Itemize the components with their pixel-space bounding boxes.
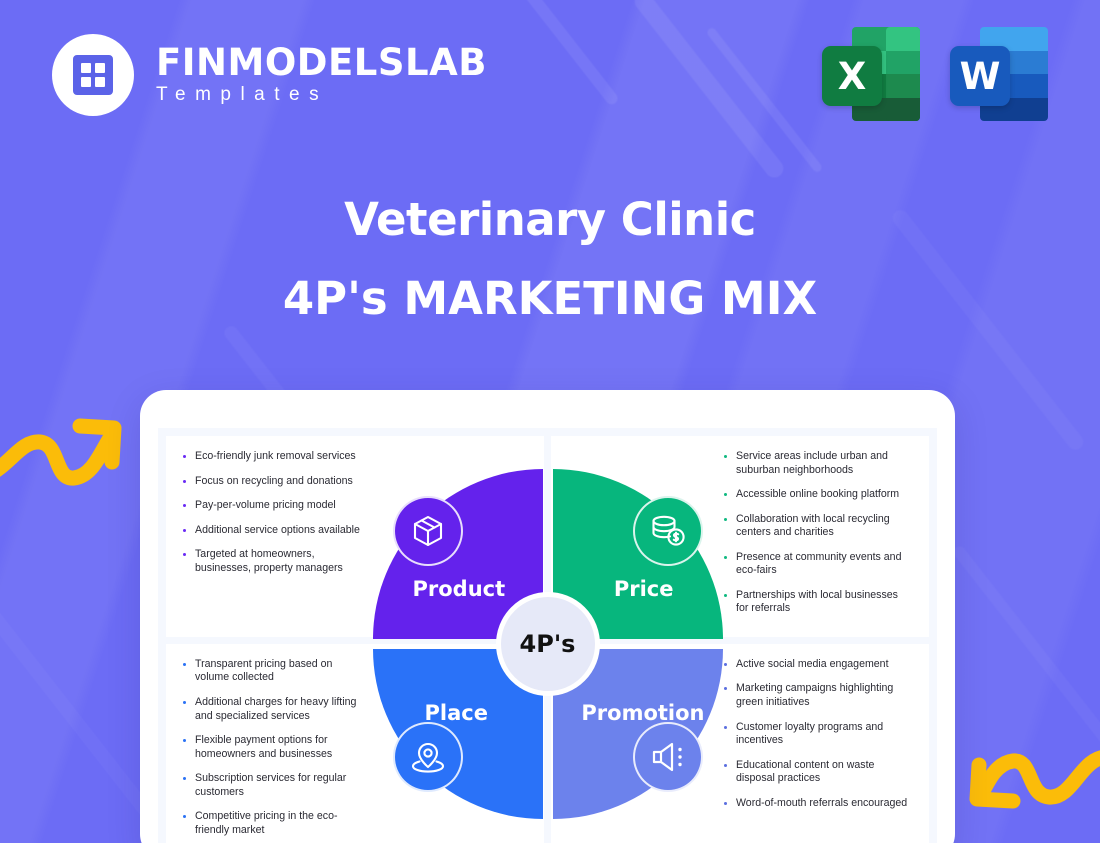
list-item: Subscription services for regular custom… bbox=[180, 772, 368, 799]
quadrant-label-place: Place bbox=[425, 701, 488, 725]
megaphone-icon bbox=[633, 722, 703, 792]
list-item: Presence at community events and eco-fai… bbox=[721, 551, 909, 578]
four-ps-donut: Product Price Place Promotion bbox=[373, 469, 723, 819]
price-bullet-list: Service areas include urban and suburban… bbox=[721, 450, 909, 627]
grid-squares-icon bbox=[73, 55, 113, 95]
list-item: Eco-friendly junk removal services bbox=[180, 450, 368, 464]
list-item: Marketing campaigns highlighting green i… bbox=[721, 682, 909, 709]
list-item: Pay-per-volume pricing model bbox=[180, 499, 368, 513]
list-item: Flexible payment options for homeowners … bbox=[180, 734, 368, 761]
excel-badge: X bbox=[822, 46, 882, 106]
background-streak bbox=[631, 0, 787, 181]
background-streak bbox=[951, 544, 1100, 756]
quadrant-grid: Eco-friendly junk removal services Focus… bbox=[166, 436, 929, 843]
logo-text: FINMODELSLAB Templates bbox=[156, 44, 487, 107]
word-badge: W bbox=[950, 46, 1010, 106]
promotion-bullet-list: Active social media engagement Marketing… bbox=[721, 658, 909, 821]
brand-logo[interactable]: FINMODELSLAB Templates bbox=[52, 34, 487, 116]
background-streak bbox=[512, 0, 620, 107]
list-item: Additional service options available bbox=[180, 524, 368, 538]
background-streak bbox=[706, 26, 824, 173]
list-item: Partnerships with local businesses for r… bbox=[721, 589, 909, 616]
title-line-1: Veterinary Clinic bbox=[0, 193, 1100, 246]
coins-dollar-icon bbox=[633, 496, 703, 566]
hub-label: 4P's bbox=[520, 630, 576, 658]
list-item: Focus on recycling and donations bbox=[180, 475, 368, 489]
quadrant-label-price: Price bbox=[614, 577, 674, 601]
excel-sheet-right bbox=[886, 27, 920, 121]
list-item: Collaboration with local recycling cente… bbox=[721, 513, 909, 540]
brand-name: FINMODELSLAB bbox=[156, 44, 487, 83]
logo-mark bbox=[52, 34, 134, 116]
list-item: Customer loyalty programs and incentives bbox=[721, 721, 909, 748]
donut-hub: 4P's bbox=[496, 592, 600, 696]
list-item: Active social media engagement bbox=[721, 658, 909, 672]
excel-letter: X bbox=[838, 55, 867, 98]
excel-icon[interactable]: X bbox=[822, 27, 920, 124]
title-line-2: 4P's MARKETING MIX bbox=[0, 272, 1100, 325]
word-icon[interactable]: W bbox=[950, 27, 1048, 124]
curvy-arrow-down-left-icon bbox=[969, 733, 1100, 833]
content-card: Eco-friendly junk removal services Focus… bbox=[140, 390, 955, 843]
list-item: Transparent pricing based on volume coll… bbox=[180, 658, 368, 685]
brand-tagline: Templates bbox=[156, 84, 487, 106]
list-item: Educational content on waste disposal pr… bbox=[721, 759, 909, 786]
page-title: Veterinary Clinic 4P's MARKETING MIX bbox=[0, 193, 1100, 325]
list-item: Targeted at homeowners, businesses, prop… bbox=[180, 548, 368, 575]
package-box-icon bbox=[393, 496, 463, 566]
list-item: Additional charges for heavy lifting and… bbox=[180, 696, 368, 723]
list-item: Service areas include urban and suburban… bbox=[721, 450, 909, 477]
content-panel: Eco-friendly junk removal services Focus… bbox=[158, 428, 937, 843]
quadrant-label-promotion: Promotion bbox=[581, 701, 704, 725]
word-letter: W bbox=[960, 55, 1001, 98]
quadrant-label-product: Product bbox=[413, 577, 506, 601]
list-item: Word-of-mouth referrals encouraged bbox=[721, 797, 909, 811]
map-pin-location-icon bbox=[393, 722, 463, 792]
format-icons: X W bbox=[822, 27, 1048, 124]
list-item: Competitive pricing in the eco-friendly … bbox=[180, 810, 368, 837]
curvy-arrow-up-right-icon bbox=[0, 398, 123, 493]
list-item: Accessible online booking platform bbox=[721, 488, 909, 502]
